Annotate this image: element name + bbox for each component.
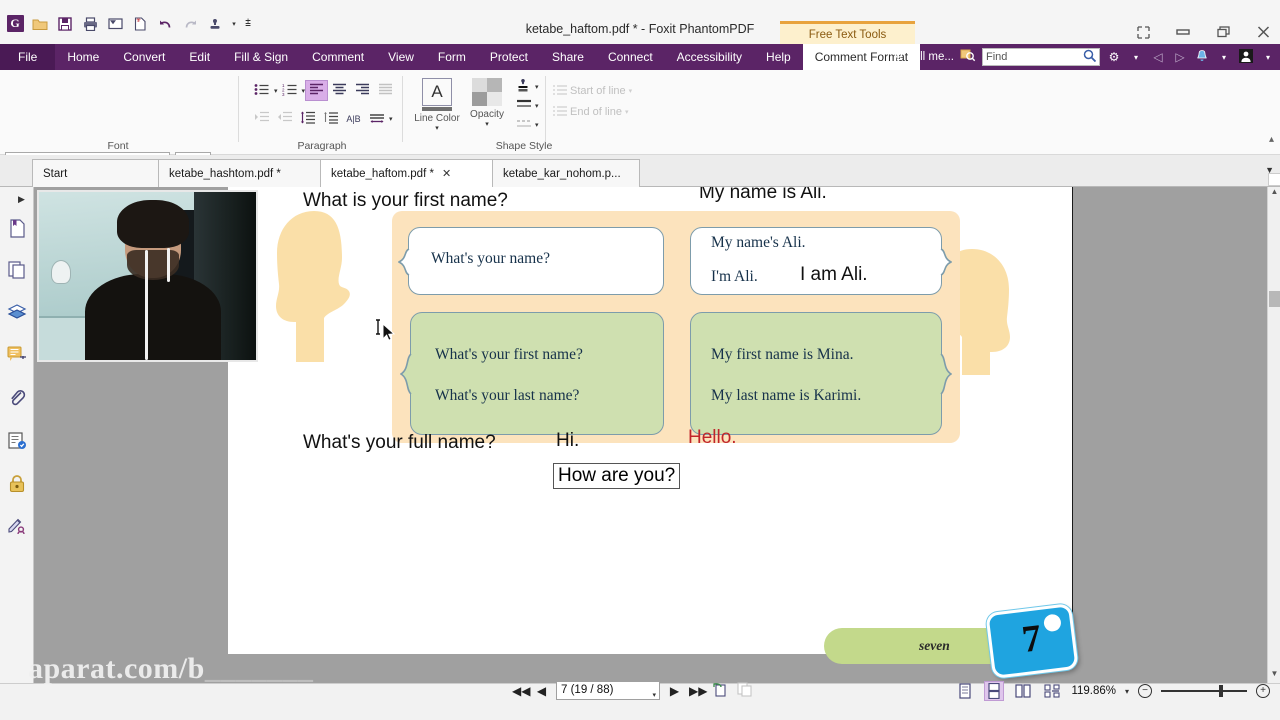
line-color-label: Line Color	[414, 113, 460, 124]
forward-arrow-icon[interactable]: ▷	[1172, 50, 1188, 64]
opacity-button[interactable]: Opacity ▾	[464, 76, 510, 128]
numbered-list-glyph: 123	[282, 83, 297, 99]
scrollbar-corner-box	[1268, 173, 1280, 186]
copy-view-icon[interactable]	[736, 681, 754, 700]
webcam-person-beard	[127, 250, 179, 280]
speech-bubble-green-right[interactable]: My first name is Mina. My last name is K…	[690, 312, 942, 435]
tell-me-search-icon[interactable]	[960, 48, 976, 67]
webcam-figurine	[51, 260, 71, 284]
align-left-button[interactable]	[305, 80, 328, 101]
find-search-icon[interactable]	[1083, 49, 1096, 65]
opacity-label: Opacity	[464, 109, 510, 120]
annotation-hi[interactable]: Hi.	[556, 430, 579, 452]
ribbon-tab-comment[interactable]: Comment	[300, 44, 376, 70]
ribbon-tab-accessibility[interactable]: Accessibility	[665, 44, 754, 70]
ribbon-tab-form[interactable]: Form	[426, 44, 478, 70]
navigation-pane-expander-icon[interactable]: ▶	[18, 194, 25, 205]
stamps-icon[interactable]	[6, 430, 28, 452]
document-tab-ketabe-haftom-label: ketabe_haftom.pdf *	[331, 161, 434, 187]
single-page-view-button[interactable]	[955, 681, 975, 701]
ribbon-right-controls: Tell me... Find ⚙ ▾ ◁ ▷ ▾ ▾	[893, 44, 1276, 70]
vertical-scrollbar[interactable]: ▲ ▼	[1267, 187, 1280, 683]
speech-bubble-green-right-tail	[940, 353, 952, 395]
scrollbar-up-arrow[interactable]: ▲	[1268, 187, 1280, 201]
line-style-button[interactable]: ▾	[516, 116, 539, 134]
zoom-slider-thumb[interactable]	[1219, 685, 1223, 697]
settings-gear-icon[interactable]: ⚙	[1106, 50, 1122, 64]
digital-signature-icon[interactable]	[6, 514, 28, 536]
mouse-cursor	[376, 319, 402, 350]
group-separator-2	[402, 76, 403, 142]
line-spacing-glyph	[300, 111, 316, 127]
ribbon-group-line-ends: Start of line ▾ End of line ▾	[548, 70, 648, 154]
speech-bubble-green-left-tail	[400, 353, 412, 395]
page-number-badge: 7	[985, 603, 1078, 679]
title-bar: G ✳	[0, 0, 1280, 44]
speech-bubble-green-right-line-1: My first name is Mina.	[711, 346, 854, 364]
increase-indent-glyph	[254, 111, 270, 126]
page-navigation-controls: ◀◀ ◀ 7 (19 / 88) ▾ ▶ ▶▶	[512, 681, 754, 700]
line-spacing-button[interactable]	[296, 108, 319, 129]
zoom-dropdown-caret-icon[interactable]: ▾	[1125, 687, 1129, 696]
scrollbar-thumb[interactable]	[1269, 291, 1280, 307]
align-left-glyph	[309, 83, 324, 98]
ribbon-tab-home[interactable]: Home	[55, 44, 111, 70]
opacity-caret-icon[interactable]: ▾	[464, 120, 510, 128]
shape-style-small-buttons: ▾ ▾ ▾	[516, 78, 539, 134]
line-width-icon	[516, 98, 532, 114]
ribbon-tab-edit[interactable]: Edit	[177, 44, 222, 70]
bookmarks-icon[interactable]	[6, 217, 28, 239]
start-of-line-button[interactable]: Start of line ▾	[552, 82, 632, 100]
auto-size-button[interactable]	[365, 108, 388, 129]
group-separator-1	[238, 76, 239, 142]
decrease-indent-button[interactable]	[273, 108, 296, 129]
restore-layout-icon[interactable]	[1132, 22, 1154, 42]
document-tab-ketabe-kar-nohom[interactable]: ketabe_kar_nohom.p...	[492, 159, 640, 187]
line-color-caret-icon[interactable]: ▾	[414, 124, 460, 132]
lightbulb-icon	[893, 49, 904, 66]
account-icon[interactable]	[1238, 49, 1254, 66]
annotation-how-are-you-text: How are you?	[558, 465, 675, 486]
document-tab-ketabe-haftom[interactable]: ketabe_haftom.pdf * ✕	[320, 159, 495, 187]
document-tab-close-icon[interactable]: ✕	[442, 161, 451, 187]
increase-indent-button[interactable]	[250, 108, 273, 129]
aparat-watermark-faded-tail: _______	[205, 652, 314, 685]
next-page-button[interactable]: ▶	[667, 684, 682, 698]
collapse-ribbon-icon[interactable]: ▴	[1269, 134, 1274, 145]
fill-color-icon	[516, 78, 532, 96]
line-width-caret-icon[interactable]: ▾	[535, 102, 539, 110]
paragraph-spacing-button[interactable]	[319, 108, 342, 129]
text-direction-ltr-button[interactable]: A|B	[342, 108, 365, 129]
fill-color-caret-icon[interactable]: ▾	[535, 83, 539, 91]
page-number-caret-icon[interactable]: ▾	[652, 687, 656, 704]
ribbon-tab-help[interactable]: Help	[754, 44, 803, 70]
auto-size-glyph	[369, 111, 385, 127]
annotation-how-are-you-selected[interactable]: How are you?	[553, 463, 680, 489]
ribbon-tab-convert[interactable]: Convert	[111, 44, 177, 70]
align-center-glyph	[332, 83, 347, 98]
tell-me-label: Tell me...	[908, 51, 954, 63]
ribbon-group-font: Helvetica ▾ 14 ▾ B I U abc X² X₂ A ▾	[0, 70, 236, 154]
minimize-icon[interactable]	[1172, 22, 1194, 42]
webcam-overlay	[37, 190, 258, 362]
last-page-button[interactable]: ▶▶	[689, 684, 704, 698]
continuous-scroll-view-button[interactable]	[984, 681, 1004, 701]
align-right-glyph	[355, 83, 370, 98]
speech-bubble-white-left-line-1: What's your name?	[431, 250, 550, 268]
find-input[interactable]: Find	[982, 48, 1100, 66]
pages-thumbnails-icon[interactable]	[6, 259, 28, 281]
paragraph-row-2: A|B ▾	[250, 108, 393, 129]
speech-bubble-white-right-tail	[940, 248, 952, 276]
svg-text:3: 3	[282, 92, 285, 96]
webcam-earphone-cord-left	[145, 250, 148, 360]
line-style-icon	[516, 117, 532, 133]
speech-bubble-green-right-line-2: My last name is Karimi.	[711, 387, 861, 405]
zoom-slider-track	[1161, 690, 1247, 692]
end-of-line-button[interactable]: End of line ▾	[552, 103, 629, 121]
account-caret-icon[interactable]: ▾	[1260, 53, 1276, 62]
bulleted-list-button[interactable]	[250, 80, 273, 101]
document-tab-start-label: Start	[43, 161, 67, 187]
page-number-input[interactable]: 7 (19 / 88) ▾	[556, 681, 660, 700]
end-of-line-label: End of line	[570, 106, 622, 118]
zoom-out-button[interactable]: −	[1138, 684, 1152, 698]
document-tab-ketabe-hashtom-label: ketabe_hashtom.pdf *	[169, 161, 281, 187]
view-and-zoom-controls: 119.86% ▾ − +	[955, 681, 1270, 701]
webcam-earphone-cord-right	[167, 248, 170, 282]
annotation-my-name-is-ali[interactable]: My name is Ali.	[699, 187, 827, 204]
end-of-line-caret-icon[interactable]: ▾	[625, 108, 629, 116]
split-view-button[interactable]	[1042, 681, 1062, 701]
speech-bubble-green-left-line-1: What's your first name?	[435, 346, 583, 364]
annotation-whats-your-full-name[interactable]: What's your full name?	[303, 432, 496, 454]
numbered-list-button[interactable]: 123	[278, 80, 301, 101]
ribbon-tab-share[interactable]: Share	[540, 44, 596, 70]
first-page-button[interactable]: ◀◀	[512, 684, 527, 698]
line-color-glyph: A	[422, 78, 452, 106]
previous-page-button[interactable]: ◀	[534, 684, 549, 698]
line-style-caret-icon[interactable]: ▾	[535, 121, 539, 129]
contextual-tab-free-text-tools: Free Text Tools	[780, 21, 915, 44]
aparat-watermark-text: aparat.com/b	[28, 652, 205, 685]
tell-me-control[interactable]: Tell me...	[893, 49, 954, 66]
ribbon-tab-protect[interactable]: Protect	[478, 44, 540, 70]
pdf-page[interactable]: What's your name? My name's Ali. I'm Ali…	[228, 187, 1073, 654]
ribbon-tab-connect[interactable]: Connect	[596, 44, 665, 70]
attachments-icon[interactable]	[6, 387, 28, 409]
decrease-indent-glyph	[277, 111, 293, 126]
ribbon-tab-file[interactable]: File	[0, 44, 55, 70]
text-direction-ltr-glyph: A|B	[346, 114, 360, 124]
speech-bubble-white-left[interactable]: What's your name?	[408, 227, 664, 295]
fill-color-button[interactable]: ▾	[516, 78, 539, 96]
zoom-in-button[interactable]: +	[1256, 684, 1270, 698]
align-justify-button[interactable]	[374, 80, 397, 101]
close-icon[interactable]	[1252, 22, 1274, 42]
line-color-swatch	[422, 107, 452, 111]
notification-bell-icon[interactable]	[1194, 49, 1210, 66]
annotation-i-am-ali[interactable]: I am Ali.	[800, 264, 868, 286]
ribbon-group-paragraph: ▾ 123 ▾	[246, 70, 398, 154]
page-number-badge-value: 7	[989, 612, 1074, 665]
comments-icon[interactable]	[6, 343, 28, 365]
document-tab-ketabe-kar-nohom-label: ketabe_kar_nohom.p...	[503, 161, 621, 187]
webcam-person-body	[85, 274, 221, 362]
line-width-button[interactable]: ▾	[516, 97, 539, 115]
rotate-view-icon[interactable]	[711, 681, 729, 700]
notification-caret-icon[interactable]: ▾	[1216, 53, 1232, 62]
end-of-line-icon	[552, 105, 568, 120]
ribbon-tab-strip: File Home Convert Edit Fill & Sign Comme…	[0, 44, 1280, 70]
navigation-pane: ▶	[0, 187, 34, 683]
speech-bubble-green-left[interactable]: What's your first name? What's your last…	[410, 312, 664, 435]
group-separator-3	[545, 76, 546, 142]
zoom-level-label: 119.86%	[1071, 685, 1116, 697]
annotation-hello[interactable]: Hello.	[688, 427, 737, 449]
align-justify-glyph	[378, 83, 393, 98]
aparat-watermark: aparat.com/b_______	[28, 652, 313, 686]
align-right-button[interactable]	[351, 80, 374, 101]
restore-window-icon[interactable]	[1212, 22, 1234, 42]
document-tab-ketabe-hashtom[interactable]: ketabe_hashtom.pdf *	[158, 159, 323, 187]
head-silhouette-left	[268, 207, 358, 387]
line-color-button[interactable]: A Line Color ▾	[414, 76, 460, 132]
speech-bubble-white-right-line-2: I'm Ali.	[711, 268, 758, 286]
page-footer-word: seven	[919, 638, 950, 654]
opacity-glyph	[472, 78, 502, 106]
paragraph-spacing-glyph	[323, 111, 339, 127]
ribbon-tab-view[interactable]: View	[376, 44, 426, 70]
webcam-person-hair	[117, 200, 189, 248]
find-placeholder-text: Find	[986, 51, 1083, 63]
start-of-line-icon	[552, 84, 568, 99]
align-center-button[interactable]	[328, 80, 351, 101]
document-tab-strip: Start ketabe_hashtom.pdf * ketabe_haftom…	[0, 155, 1280, 187]
facing-pages-view-button[interactable]	[1013, 681, 1033, 701]
window-controls	[1132, 22, 1274, 42]
ribbon-comment-format: Helvetica ▾ 14 ▾ B I U abc X² X₂ A ▾	[0, 70, 1280, 155]
bulleted-list-glyph	[254, 83, 269, 99]
settings-caret-icon[interactable]: ▾	[1128, 53, 1144, 62]
paragraph-row-1: ▾ 123 ▾	[250, 80, 397, 101]
zoom-slider[interactable]	[1161, 685, 1247, 697]
auto-size-caret-icon[interactable]: ▾	[389, 115, 393, 123]
start-of-line-caret-icon[interactable]: ▾	[629, 87, 633, 95]
font-group-label: Font	[0, 140, 236, 152]
speech-bubble-green-left-line-2: What's your last name?	[435, 387, 579, 405]
layers-icon[interactable]	[6, 301, 28, 323]
start-of-line-label: Start of line	[570, 85, 626, 97]
annotation-what-is-your-first-name[interactable]: What is your first name?	[303, 190, 508, 212]
speech-bubble-white-left-tail	[398, 248, 410, 276]
page-number-value: 7 (19 / 88)	[561, 684, 613, 696]
speech-bubble-white-right-line-1: My name's Ali.	[711, 234, 806, 252]
security-lock-icon[interactable]	[6, 472, 28, 494]
paragraph-group-label: Paragraph	[246, 140, 398, 152]
ribbon-tab-fill-and-sign[interactable]: Fill & Sign	[222, 44, 300, 70]
window-title: ketabe_haftom.pdf * - Foxit PhantomPDF	[0, 22, 1280, 36]
ribbon-tabs-list: File Home Convert Edit Fill & Sign Comme…	[0, 44, 920, 70]
back-arrow-icon[interactable]: ◁	[1150, 50, 1166, 64]
